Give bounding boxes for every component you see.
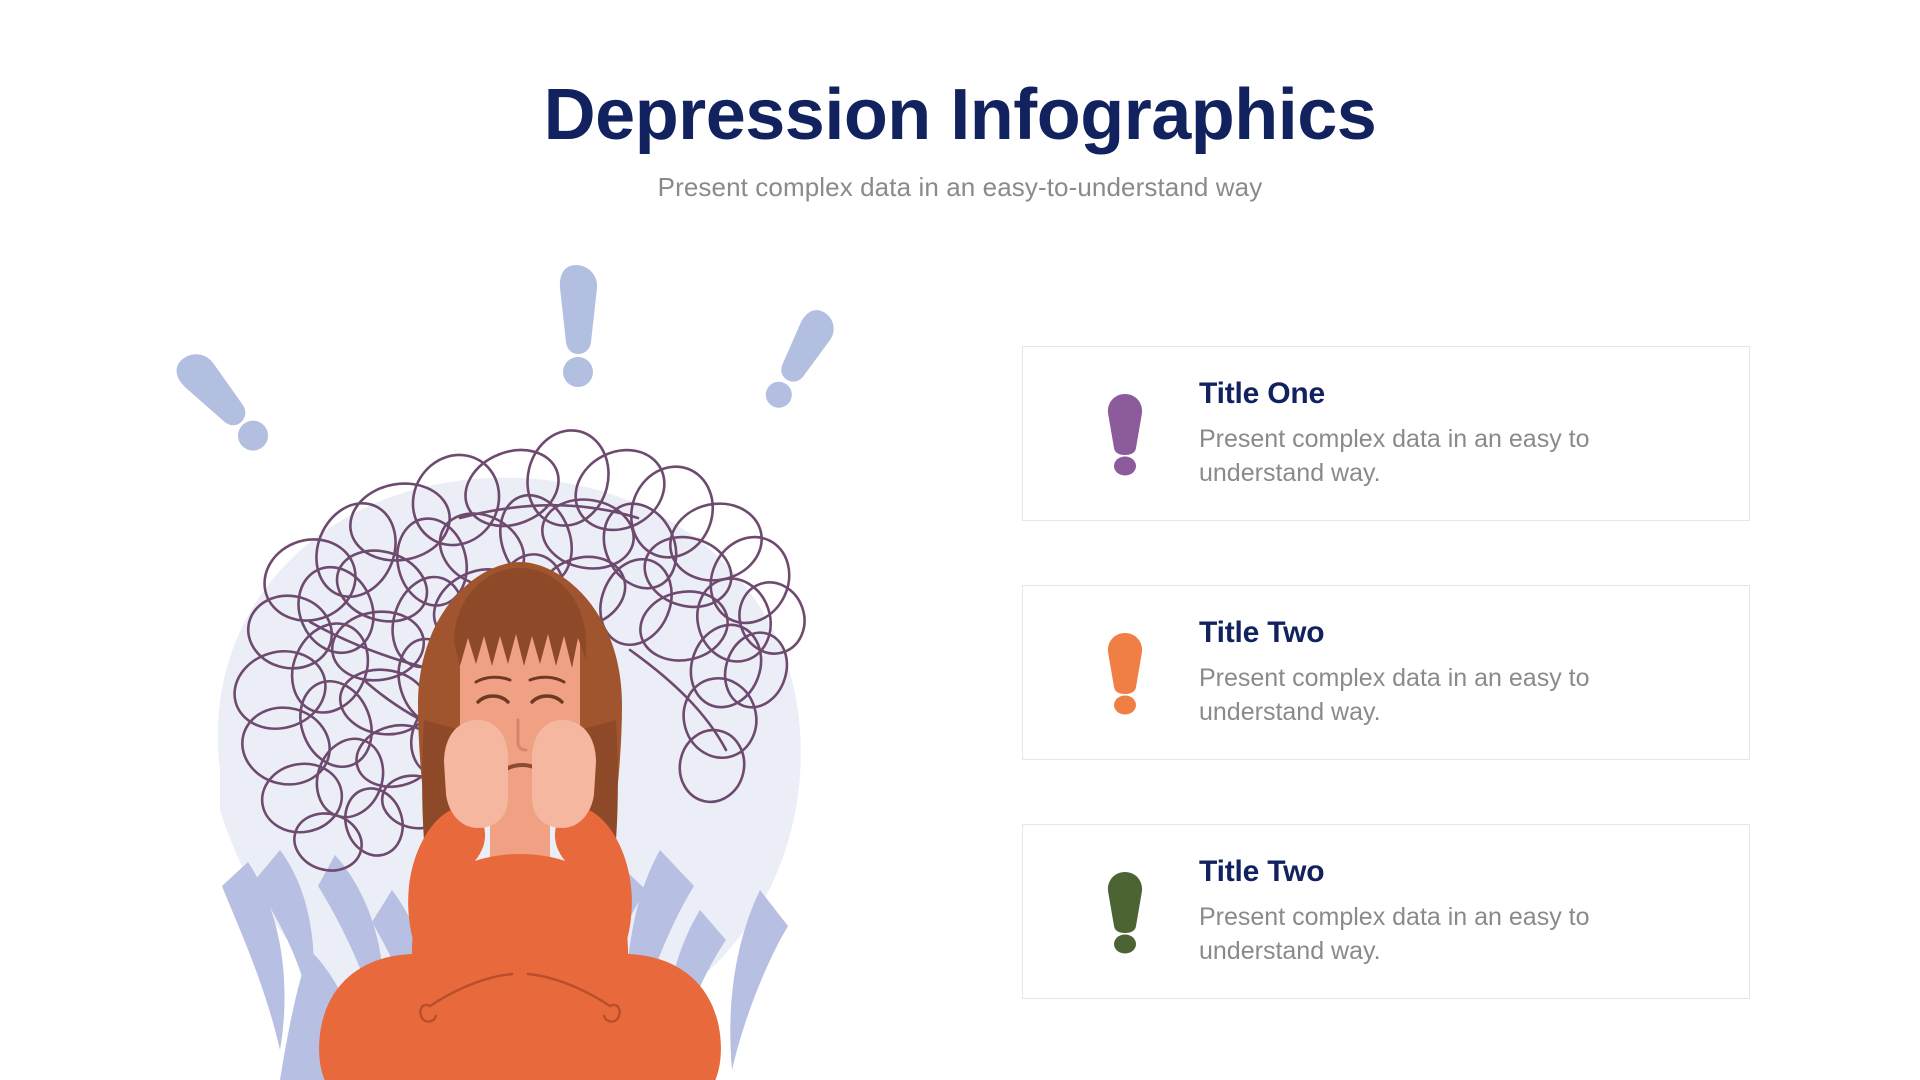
exclamation-icon-green [1095, 870, 1155, 954]
exclamation-accent-left [170, 346, 277, 459]
info-card-1-body: Title One Present complex data in an eas… [1155, 377, 1669, 490]
info-card-3-title: Title Two [1199, 855, 1669, 889]
info-card-3-description: Present complex data in an easy to under… [1199, 901, 1669, 968]
exclamation-accent-right [757, 305, 840, 415]
exclamation-icon-purple [1095, 392, 1155, 476]
slide-header: Depression Infographics Present complex … [0, 0, 1920, 203]
page-title: Depression Infographics [0, 78, 1920, 154]
info-card-1-description: Present complex data in an easy to under… [1199, 423, 1669, 490]
info-card-list: Title One Present complex data in an eas… [1022, 346, 1750, 999]
exclamation-accent-top [560, 265, 597, 387]
info-card-1[interactable]: Title One Present complex data in an eas… [1022, 346, 1750, 521]
woman-stressed-tangled-thoughts-illustration [160, 250, 900, 1080]
info-card-3[interactable]: Title Two Present complex data in an eas… [1022, 824, 1750, 999]
info-card-2-body: Title Two Present complex data in an eas… [1155, 616, 1669, 729]
page-subtitle: Present complex data in an easy-to-under… [0, 172, 1920, 203]
info-card-2-title: Title Two [1199, 616, 1669, 650]
info-card-2[interactable]: Title Two Present complex data in an eas… [1022, 585, 1750, 760]
info-card-2-description: Present complex data in an easy to under… [1199, 662, 1669, 729]
info-card-1-title: Title One [1199, 377, 1669, 411]
exclamation-icon-orange [1095, 631, 1155, 715]
info-card-3-body: Title Two Present complex data in an eas… [1155, 855, 1669, 968]
